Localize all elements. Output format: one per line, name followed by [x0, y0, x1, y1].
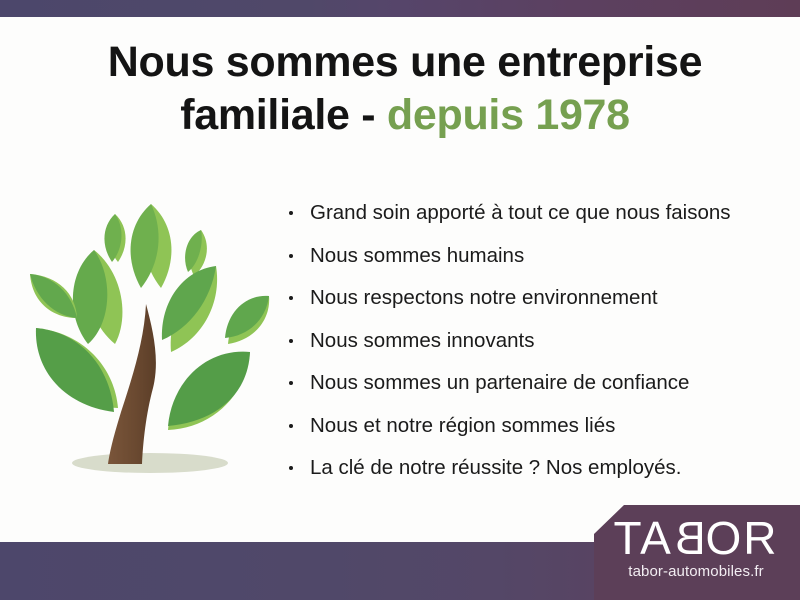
bullet-dot-icon — [289, 211, 293, 215]
bullet-dot-icon — [289, 424, 293, 428]
list-item-label: Nous respectons notre environnement — [310, 286, 658, 309]
title-line-2-plain: familiale - — [180, 91, 387, 139]
value-bullet-list: Grand soin apporté à tout ce que nous fa… — [286, 192, 776, 490]
leaf-far-right — [225, 296, 269, 344]
leaf-top-center — [131, 204, 172, 288]
leaf-far-left — [30, 274, 77, 318]
bullet-dot-icon — [289, 339, 293, 343]
bullet-dot-icon — [289, 254, 293, 258]
leaf-upper-right — [162, 266, 217, 352]
list-item-label: Nous et notre région sommes liés — [310, 414, 615, 437]
page-title: Nous sommes une entreprise familiale - d… — [60, 36, 750, 142]
slide-canvas: Nous sommes une entreprise familiale - d… — [0, 0, 800, 600]
brand-wordmark-part3: OR — [706, 512, 779, 564]
top-accent-bar — [0, 0, 800, 17]
leaf-lower-left — [36, 328, 118, 412]
tree-illustration — [22, 192, 284, 492]
list-item: Nous et notre région sommes liés — [286, 405, 776, 448]
list-item-label: Grand soin apporté à tout ce que nous fa… — [310, 201, 731, 224]
brand-logo[interactable]: TABOR tabor-automobiles.fr — [556, 505, 800, 600]
list-item: Nous sommes humains — [286, 235, 776, 278]
list-item: La clé de notre réussite ? Nos employés. — [286, 447, 776, 490]
leaf-top-small-left — [104, 214, 125, 262]
list-item: Nous respectons notre environnement — [286, 277, 776, 320]
list-item-label: Nous sommes innovants — [310, 329, 534, 352]
list-item: Grand soin apporté à tout ce que nous fa… — [286, 192, 776, 235]
title-line-1: Nous sommes une entreprise — [108, 38, 702, 86]
bullet-dot-icon — [289, 296, 293, 300]
brand-wordmark-part2: B — [673, 515, 706, 561]
leaf-lower-right — [168, 352, 250, 430]
bullet-dot-icon — [289, 381, 293, 385]
leaf-upper-left — [73, 250, 123, 344]
list-item-label: Nous sommes humains — [310, 244, 524, 267]
list-item-label: Nous sommes un partenaire de confiance — [310, 371, 689, 394]
brand-wordmark: TABOR — [598, 515, 794, 561]
brand-website-url[interactable]: tabor-automobiles.fr — [598, 563, 794, 580]
brand-wordmark-part1: TA — [613, 512, 672, 564]
list-item: Nous sommes innovants — [286, 320, 776, 363]
bullet-dot-icon — [289, 466, 293, 470]
tree-shadow — [72, 453, 228, 473]
list-item-label: La clé de notre réussite ? Nos employés. — [310, 456, 681, 479]
list-item: Nous sommes un partenaire de confiance — [286, 362, 776, 405]
title-line-2-accent: depuis 1978 — [387, 91, 630, 139]
